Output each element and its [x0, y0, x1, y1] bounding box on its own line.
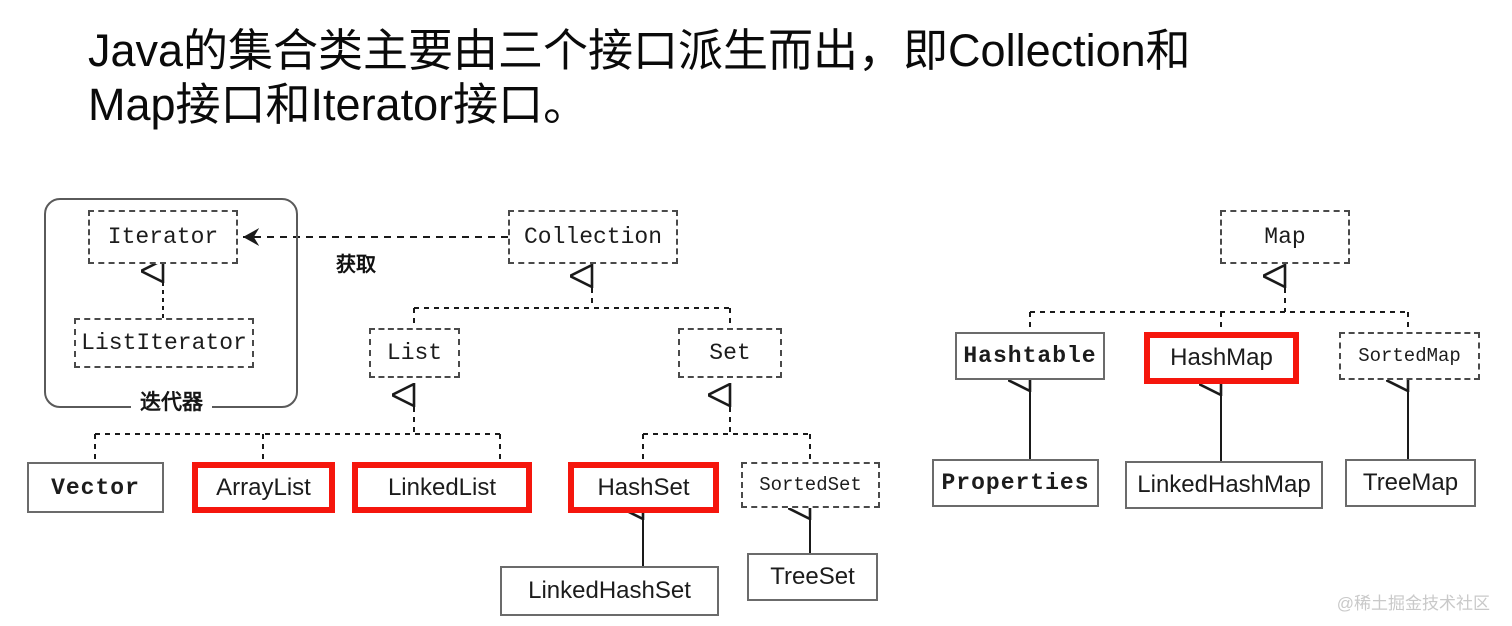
diagram-canvas: Java的集合类主要由三个接口派生而出，即Collection和 Map接口和I…	[0, 0, 1512, 626]
node-hash-map[interactable]: HashMap	[1144, 332, 1299, 384]
edge-set-children	[643, 395, 810, 462]
node-sorted-set[interactable]: SortedSet	[741, 462, 880, 508]
node-tree-set[interactable]: TreeSet	[747, 553, 878, 601]
edge-label-acquire: 获取	[336, 248, 376, 277]
node-vector[interactable]: Vector	[27, 462, 164, 513]
node-iterator[interactable]: Iterator	[88, 210, 238, 264]
node-list-iterator[interactable]: ListIterator	[74, 318, 254, 368]
watermark: @稀土掘金技术社区	[1337, 589, 1490, 614]
edge-map-children	[1030, 276, 1408, 332]
node-array-list[interactable]: ArrayList	[192, 462, 335, 513]
node-tree-map[interactable]: TreeMap	[1345, 459, 1476, 507]
node-collection[interactable]: Collection	[508, 210, 678, 264]
node-linked-hash-set[interactable]: LinkedHashSet	[500, 566, 719, 616]
iterator-group-label: 迭代器	[131, 386, 212, 416]
node-properties[interactable]: Properties	[932, 459, 1099, 507]
edge-collection-children	[414, 276, 730, 328]
node-map[interactable]: Map	[1220, 210, 1350, 264]
node-list[interactable]: List	[369, 328, 460, 378]
node-hash-set[interactable]: HashSet	[568, 462, 719, 513]
node-hashtable[interactable]: Hashtable	[955, 332, 1105, 380]
node-sorted-map[interactable]: SortedMap	[1339, 332, 1480, 380]
node-set[interactable]: Set	[678, 328, 782, 378]
node-linked-list[interactable]: LinkedList	[352, 462, 532, 513]
node-linked-hash-map[interactable]: LinkedHashMap	[1125, 461, 1323, 509]
